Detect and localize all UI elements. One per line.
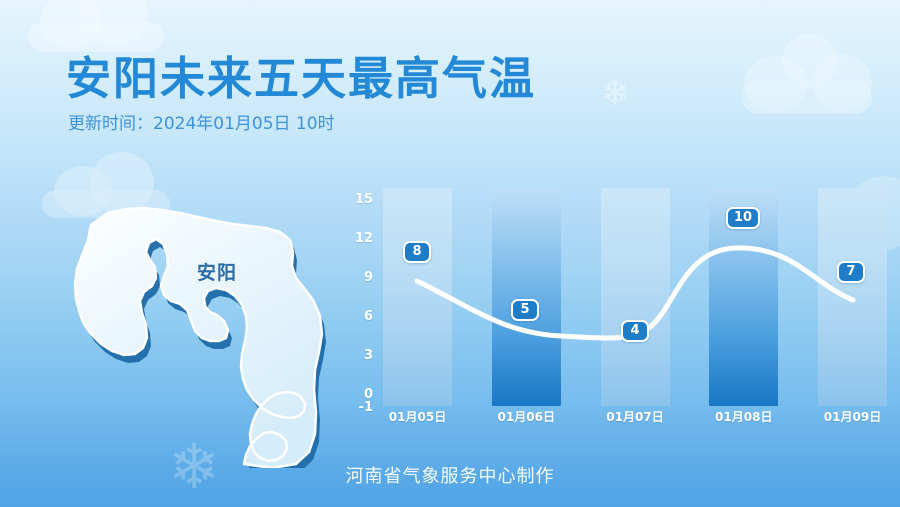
y-axis: 15 12 9 6 3 0 -1 — [347, 180, 373, 395]
cloud-icon — [742, 30, 872, 112]
x-tick-label: 01月08日 — [709, 408, 778, 425]
value-badge: 8 — [403, 241, 431, 263]
x-tick-label: 01月06日 — [492, 408, 561, 425]
map-shape — [28, 168, 338, 468]
y-tick-label: 3 — [364, 348, 373, 363]
value-badge: 10 — [726, 207, 760, 229]
x-tick-label: 01月09日 — [818, 408, 887, 425]
temperature-chart: 15 12 9 6 3 0 -1 8 5 4 10 7 — [347, 180, 887, 425]
map-region-label: 安阳 — [197, 258, 237, 285]
x-tick-label: 01月07日 — [601, 408, 670, 425]
value-badge: 5 — [511, 299, 539, 321]
page-title: 安阳未来五天最高气温 — [66, 42, 536, 107]
weather-forecast-poster: ❄ 安阳未来五天最高气温 更新时间：2024年01月05日 10时 安阳 ❄ 1… — [0, 0, 900, 507]
anyang-map — [28, 168, 338, 468]
y-tick-label: 6 — [364, 309, 373, 324]
value-badge: 7 — [837, 261, 865, 283]
snowflake-icon: ❄ — [600, 76, 630, 112]
y-tick-label: 9 — [364, 270, 373, 285]
update-time-text: 更新时间：2024年01月05日 10时 — [68, 109, 335, 134]
cloud-icon — [20, 0, 170, 48]
value-badge: 4 — [621, 320, 649, 342]
y-tick-label: 12 — [355, 231, 373, 246]
footer-credit: 河南省气象服务中心制作 — [0, 462, 900, 488]
plot-area: 8 5 4 10 7 — [383, 188, 887, 406]
y-tick-label: -1 — [359, 400, 373, 415]
x-tick-label: 01月05日 — [383, 408, 452, 425]
temperature-line — [383, 188, 887, 406]
y-tick-label: 15 — [355, 192, 373, 207]
x-axis: 01月05日 01月06日 01月07日 01月08日 01月09日 — [383, 408, 887, 425]
